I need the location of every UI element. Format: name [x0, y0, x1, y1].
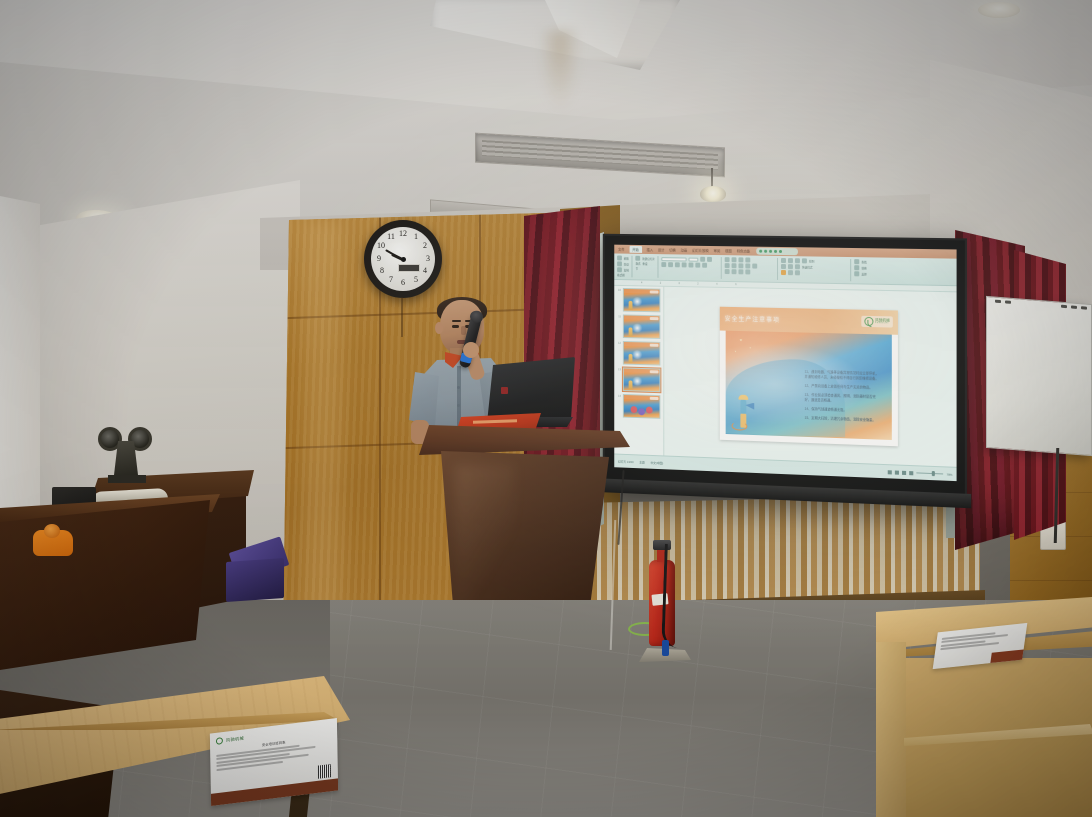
- presenter-ear: [435, 322, 443, 334]
- thumbnail-number: 12: [617, 341, 621, 345]
- thumb-glow: [632, 377, 644, 386]
- replace-icon[interactable]: [854, 265, 859, 270]
- cut-label: 剪切: [624, 262, 629, 266]
- cut-icon[interactable]: [617, 261, 622, 266]
- shape-line-icon[interactable]: [788, 258, 793, 263]
- lectern-top: [415, 425, 630, 455]
- char-spacing-icon[interactable]: [695, 263, 700, 268]
- front-right-desk-side: [876, 642, 906, 817]
- qat-undo-icon[interactable]: [764, 250, 767, 253]
- presenter-nose: [461, 326, 466, 335]
- screen-surface: 文件 开始 插入 设计 切换 动画 幻灯片放映 审阅 视图 特色功能: [614, 245, 956, 481]
- change-case-icon[interactable]: [702, 263, 707, 268]
- flipchart-clip: [1005, 300, 1011, 303]
- thumb-logo: [650, 370, 659, 373]
- hand-holding-mic: [463, 342, 479, 358]
- clock-numeral: 7: [385, 276, 397, 284]
- thumb-glow: [632, 324, 644, 333]
- file-explorer-icon[interactable]: [641, 472, 647, 478]
- ceiling-water-stain: [540, 30, 580, 110]
- ribbon-group-drawing[interactable]: 排列 快速样式: [781, 258, 851, 281]
- quick-styles-label: 快速样式: [802, 265, 812, 269]
- smartart-icon[interactable]: [746, 269, 751, 274]
- shape-rect-icon[interactable]: [781, 258, 786, 263]
- select-icon[interactable]: [854, 271, 859, 276]
- qat-redo-icon[interactable]: [769, 250, 772, 253]
- slide-thumbnail-10[interactable]: [623, 288, 661, 312]
- flipchart-clip: [1081, 306, 1087, 309]
- slide-title: 安全生产注意事项: [725, 314, 780, 324]
- columns-icon[interactable]: [725, 269, 730, 274]
- thumb-circle-purple: [638, 408, 645, 415]
- ruler-tick: 0: [679, 282, 680, 285]
- new-slide-label: 新建幻灯片: [642, 256, 655, 260]
- clock-numeral: 1: [410, 233, 422, 241]
- justify-icon[interactable]: [746, 263, 751, 268]
- ribbon-tab-file[interactable]: 文件: [618, 247, 624, 252]
- slide-canvas[interactable]: 安全生产注意事项 风驰机械 FENGCHI: [664, 287, 956, 467]
- ribbon-group-editing[interactable]: 查找 替换 选择: [854, 259, 869, 281]
- star-icon: [735, 350, 737, 352]
- ribbon-tab-view[interactable]: 视图: [725, 248, 732, 253]
- thumb-glow: [632, 297, 644, 306]
- laptop-brand-logo: [501, 387, 508, 394]
- thumbnail-row[interactable]: 10: [617, 288, 660, 312]
- worker-torso: [740, 399, 746, 413]
- thumb-logo: [650, 396, 659, 399]
- panel-highlight: [303, 222, 343, 622]
- slide-body-text: 11、遇到电器、气路等设备异常情况时应立即停机，并通知维修人员，未经授权不得自行…: [805, 370, 882, 423]
- section-label: 节: [636, 267, 638, 271]
- clock-numeral: 5: [410, 276, 422, 284]
- bullets-icon[interactable]: [725, 257, 730, 262]
- flipchart-clip: [1071, 305, 1077, 308]
- clock-date-window: [398, 264, 420, 272]
- qat-print-icon[interactable]: [774, 250, 777, 253]
- copy-label: 复制: [624, 268, 629, 272]
- orange-fitting-cap: [44, 524, 60, 538]
- clock-numeral: 6: [397, 279, 409, 287]
- layout-label: 版式: [636, 262, 641, 266]
- align-right-icon[interactable]: [739, 263, 744, 268]
- clock-numeral: 11: [385, 233, 397, 241]
- ruler-tick: 2: [697, 282, 698, 285]
- pdf-reader-icon[interactable]: [664, 473, 670, 479]
- star-icon: [749, 347, 751, 349]
- format-painter-label: 格式刷: [617, 273, 624, 277]
- company-logo: 风驰机械 FENGCHI: [861, 316, 893, 328]
- find-icon[interactable]: [854, 259, 859, 264]
- clock-center-pin: [401, 257, 406, 262]
- ribbon-tab-addins[interactable]: 特色功能: [737, 248, 750, 253]
- projection-screen[interactable]: 文件 开始 插入 设计 切换 动画 幻灯片放映 审阅 视图 特色功能: [603, 234, 967, 506]
- italic-icon[interactable]: [668, 262, 673, 267]
- hardhat-icon: [738, 394, 748, 399]
- pulley-base: [108, 475, 146, 483]
- ribbon-tab-slideshow[interactable]: 幻灯片放映: [692, 248, 709, 253]
- clock-numeral: 9: [373, 255, 385, 263]
- view-slideshow-icon[interactable]: [910, 471, 914, 475]
- align-text-icon[interactable]: [739, 269, 744, 274]
- paste-label: 粘贴: [624, 256, 629, 260]
- shape-effects-icon[interactable]: [795, 270, 800, 275]
- ribbon-group-font[interactable]: [662, 256, 722, 279]
- ribbon-tab-home[interactable]: 开始: [629, 246, 641, 253]
- slide-paragraph-11: 11、遇到电器、气路等设备异常情况时应立即停机，并通知维修人员，未经授权不得自行…: [805, 370, 882, 382]
- recessed-downlight-right: [978, 2, 1020, 18]
- line-spacing-icon[interactable]: [752, 264, 757, 269]
- quick-access-toolbar[interactable]: [756, 248, 798, 256]
- ruler-tick: 4: [641, 281, 642, 284]
- bold-icon[interactable]: [662, 262, 667, 267]
- eyebrow-left: [452, 320, 461, 322]
- hanging-spotlight: [700, 186, 726, 202]
- thumb-logo: [650, 343, 659, 346]
- pulley-hoist: [98, 427, 156, 485]
- extinguisher-nozzle: [662, 640, 669, 656]
- thumb-glow: [632, 350, 644, 359]
- ruler-tick: 4: [716, 283, 717, 286]
- zoom-slider[interactable]: [917, 472, 944, 474]
- numbering-icon[interactable]: [732, 257, 737, 262]
- handout-logo-text: 风驰机械: [226, 735, 244, 743]
- clock-numeral: 3: [422, 255, 434, 263]
- flipchart-whiteboard[interactable]: [986, 296, 1092, 456]
- find-label: 查找: [861, 260, 866, 264]
- slide-thumbnail-11[interactable]: [623, 314, 661, 339]
- shape-callout-icon[interactable]: [795, 264, 800, 269]
- shape-fill-icon[interactable]: [781, 270, 786, 275]
- zoom-level: 78%: [947, 472, 953, 476]
- logo-mark-icon: [864, 317, 873, 326]
- grow-font-icon[interactable]: [700, 257, 705, 262]
- eye-left: [452, 325, 459, 328]
- align-center-icon[interactable]: [732, 263, 737, 268]
- shirt-button: [457, 386, 460, 389]
- ribbon-group-slides[interactable]: 新建幻灯片 版式 重设 节: [636, 256, 659, 278]
- thumbnail-number: 14: [617, 394, 621, 398]
- logo-latin-text: FENGCHI: [875, 323, 890, 325]
- sleeve-left: [409, 372, 439, 426]
- current-slide[interactable]: 安全生产注意事项 风驰机械 FENGCHI: [720, 306, 898, 446]
- megaphone-icon: [745, 402, 754, 409]
- ribbon-group-paragraph[interactable]: [725, 257, 778, 280]
- shadow-icon[interactable]: [682, 262, 687, 267]
- shape-oval-icon[interactable]: [802, 258, 807, 263]
- slide-paragraph-13: 13、作业前必须检查通风、照明、消防器材是否完好，通道是否畅通。: [805, 393, 882, 405]
- ribbon-tab-design[interactable]: 设计: [658, 247, 665, 252]
- thumb-logo: [650, 317, 659, 320]
- thumb-figure: [629, 380, 633, 389]
- language-indicator[interactable]: 中文(中国): [651, 460, 664, 464]
- shape-star-icon[interactable]: [788, 264, 793, 269]
- thumb-logo: [650, 290, 659, 293]
- text-direction-icon[interactable]: [732, 269, 737, 274]
- clock-numeral: 12: [397, 230, 409, 238]
- thumbnail-row[interactable]: 12: [617, 341, 660, 366]
- thumbnail-row[interactable]: 13: [617, 367, 660, 392]
- ribbon-tab-transitions[interactable]: 切换: [669, 247, 676, 252]
- clock-numeral: 2: [419, 242, 431, 250]
- conference-room-photo: 12 1 2 3 4 5 6 7 8 9 10 11 文件 开始 插入 设计 切…: [0, 0, 1092, 817]
- ruler-tick: 2: [660, 282, 661, 285]
- powerpoint-window[interactable]: 文件 开始 插入 设计 切换 动画 幻灯片放映 审阅 视图 特色功能: [614, 245, 956, 481]
- extinguisher-hose: [661, 544, 683, 649]
- underline-icon[interactable]: [675, 262, 680, 267]
- zoom-knob[interactable]: [932, 471, 935, 476]
- thumbnail-row[interactable]: 11: [617, 314, 660, 339]
- new-slide-icon[interactable]: [636, 256, 641, 261]
- hose-loop: [732, 421, 748, 431]
- align-left-icon[interactable]: [725, 263, 730, 268]
- thumbnail-number: 11: [617, 314, 621, 318]
- shape-triangle-icon[interactable]: [781, 264, 786, 269]
- wechat-icon[interactable]: [653, 473, 659, 479]
- ribbon-tab-review[interactable]: 审阅: [714, 248, 721, 253]
- clock-numeral: 4: [419, 267, 431, 275]
- ribbon-tab-insert[interactable]: 插入: [646, 247, 653, 252]
- shirt-button: [457, 404, 460, 407]
- copy-icon[interactable]: [617, 267, 622, 272]
- qat-more-icon[interactable]: [779, 250, 782, 253]
- qr-code-icon: [318, 764, 331, 779]
- thumbnail-row[interactable]: 14: [617, 394, 660, 419]
- handout-logo-icon: [216, 737, 223, 745]
- thumbnail-number: 10: [617, 288, 621, 292]
- search-icon[interactable]: [630, 472, 636, 478]
- indent-increase-icon[interactable]: [746, 257, 751, 262]
- paste-icon[interactable]: [617, 255, 622, 260]
- ribbon-group-clipboard[interactable]: 粘贴 剪切 复制 格式刷: [617, 255, 633, 277]
- thumbnail-number: 13: [617, 367, 621, 371]
- star-icon: [739, 338, 742, 341]
- flipchart-clip: [1061, 305, 1067, 308]
- thumb-circle-red-2: [646, 407, 653, 414]
- ruler-tick: 6: [735, 283, 736, 286]
- replace-label: 替换: [861, 266, 866, 270]
- font-name-box[interactable]: [662, 257, 687, 261]
- flipchart-clip: [995, 300, 1001, 303]
- view-reading-icon[interactable]: [902, 470, 906, 474]
- slide-thumbnail-13-selected[interactable]: [623, 367, 661, 392]
- folder-band: [473, 419, 517, 424]
- view-sorter-icon[interactable]: [895, 470, 899, 474]
- view-normal-icon[interactable]: [888, 470, 892, 474]
- lectern-highlight: [455, 465, 515, 615]
- worker-illustration: [737, 394, 750, 430]
- fire-extinguisher: [645, 536, 679, 664]
- slide-paragraph-14: 14、保持气球通道畅通无阻。: [805, 406, 882, 414]
- font-size-box[interactable]: [689, 257, 699, 261]
- clock-cord: [401, 297, 403, 337]
- shrink-font-icon[interactable]: [707, 257, 712, 262]
- strikethrough-icon[interactable]: [689, 263, 694, 268]
- thumb-circle-red: [630, 406, 637, 413]
- theme-name: 主题: [639, 460, 644, 464]
- thumb-figure: [629, 301, 633, 310]
- thumb-figure: [629, 327, 633, 336]
- slide-thumbnail-12[interactable]: [623, 341, 661, 366]
- slide-paragraph-12: 12、严禁向设备上放置任何与生产无关的物品。: [805, 384, 882, 391]
- arrange-label: 排列: [809, 259, 814, 263]
- shape-arrow-icon[interactable]: [795, 258, 800, 263]
- wall-clock: 12 1 2 3 4 5 6 7 8 9 10 11: [364, 220, 442, 298]
- purple-carton: [226, 558, 284, 602]
- qat-save-icon[interactable]: [759, 250, 762, 253]
- slide-illustration: 11、遇到电器、气路等设备异常情况时应立即停机，并通知维修人员，未经授权不得自行…: [726, 330, 892, 439]
- indent-decrease-icon[interactable]: [739, 257, 744, 262]
- shape-outline-icon[interactable]: [788, 270, 793, 275]
- reset-label: 重设: [642, 262, 647, 266]
- powerpoint-body: 10 11: [614, 286, 956, 467]
- clock-numeral: 8: [376, 267, 388, 275]
- select-label: 选择: [861, 272, 866, 276]
- thumb-figure: [629, 354, 633, 363]
- ribbon-tab-animations[interactable]: 动画: [681, 248, 688, 253]
- slide-thumbnail-14[interactable]: [623, 394, 661, 419]
